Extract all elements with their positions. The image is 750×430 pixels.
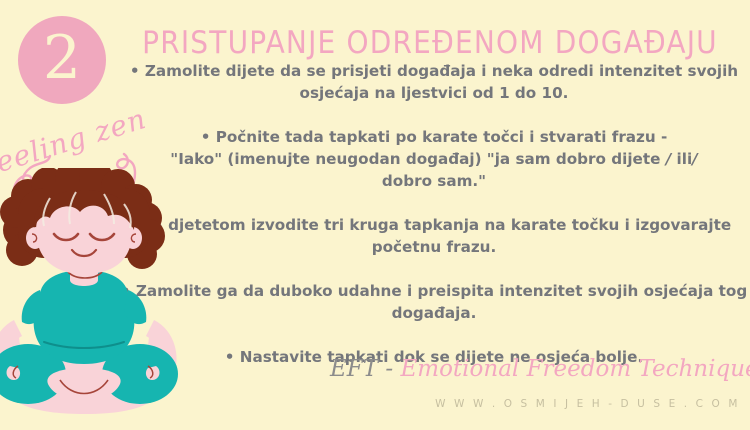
list-item-line-2a: "Iako" (imenujte neugodan događaj) "ja s… (170, 150, 665, 168)
signature-rest: Emotional Freedom Technique (400, 356, 750, 382)
list-item: • S djetetom izvodite tri kruga tapkanja… (118, 214, 750, 258)
instruction-list: • Zamolite dijete da se prisjeti događaj… (118, 60, 750, 368)
poster-card: 2 PRISTUPANJE ODREĐENOM DOGAĐAJU • Zamol… (0, 0, 750, 430)
list-item-line-3: dobro sam." (382, 172, 486, 190)
bullet-icon: • (130, 62, 140, 80)
list-item-text: Zamolite dijete da se prisjeti događaja … (145, 62, 738, 102)
list-item-line-2b: ili (671, 150, 692, 168)
step-number: 2 (43, 28, 81, 88)
list-item: • Zamolite ga da duboko udahne i preispi… (118, 280, 750, 324)
step-number-badge: 2 (18, 16, 106, 104)
right-ear (124, 227, 142, 249)
list-item: • Počnite tada tapkati po karate točci i… (118, 126, 750, 192)
list-item-text: Zamolite ga da duboko udahne i preispita… (136, 282, 747, 322)
list-item: • Zamolite dijete da se prisjeti događaj… (118, 60, 750, 104)
signature-prefix: EFT - (330, 356, 393, 382)
bullet-icon: • (201, 128, 211, 146)
page-title: PRISTUPANJE ODREĐENOM DOGAĐAJU (116, 24, 744, 61)
website-url: W W W . O S M I J E H - D U S E . C O M (330, 398, 740, 410)
list-item-line-1: Počnite tada tapkati po karate točci i s… (216, 128, 668, 146)
left-ear (26, 227, 44, 249)
bullet-icon: • (225, 348, 235, 366)
slash-mark-2: / (692, 150, 698, 168)
signature: EFT - Emotional Freedom Technique (330, 356, 745, 382)
meditating-child-illustration (0, 168, 178, 430)
list-item-text: S djetetom izvodite tri kruga tapkanja n… (152, 216, 731, 256)
